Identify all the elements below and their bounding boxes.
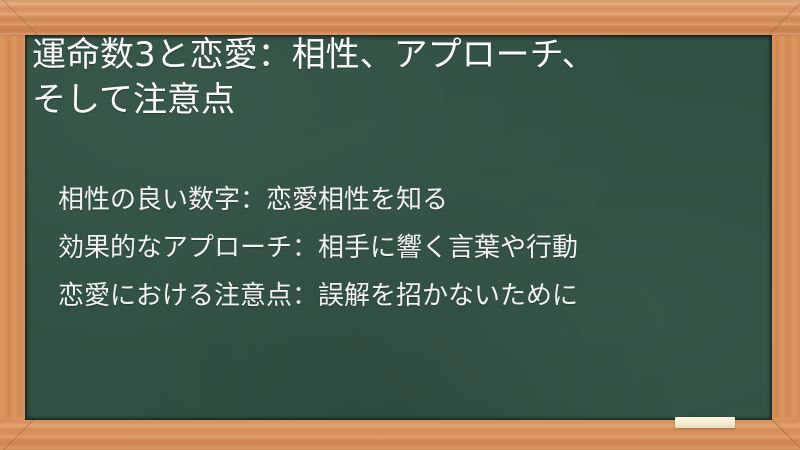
list-item: 恋愛における注意点：誤解を招かないために	[58, 272, 758, 320]
chalk-stick	[675, 417, 735, 428]
chalkboard-surface: 運命数3と恋愛：相性、アプローチ、 そして注意点 相性の良い数字：恋愛相性を知る…	[25, 35, 772, 420]
frame-top-rail	[0, 0, 800, 36]
list-item: 効果的なアプローチ：相手に響く言葉や行動	[58, 224, 758, 272]
slide-title: 運命数3と恋愛：相性、アプローチ、 そして注意点	[32, 35, 732, 123]
list-item: 相性の良い数字：恋愛相性を知る	[58, 176, 758, 224]
chalkboard-frame: 運命数3と恋愛：相性、アプローチ、 そして注意点 相性の良い数字：恋愛相性を知る…	[0, 0, 800, 450]
slide-bullet-list: 相性の良い数字：恋愛相性を知る 効果的なアプローチ：相手に響く言葉や行動 恋愛に…	[58, 176, 758, 320]
